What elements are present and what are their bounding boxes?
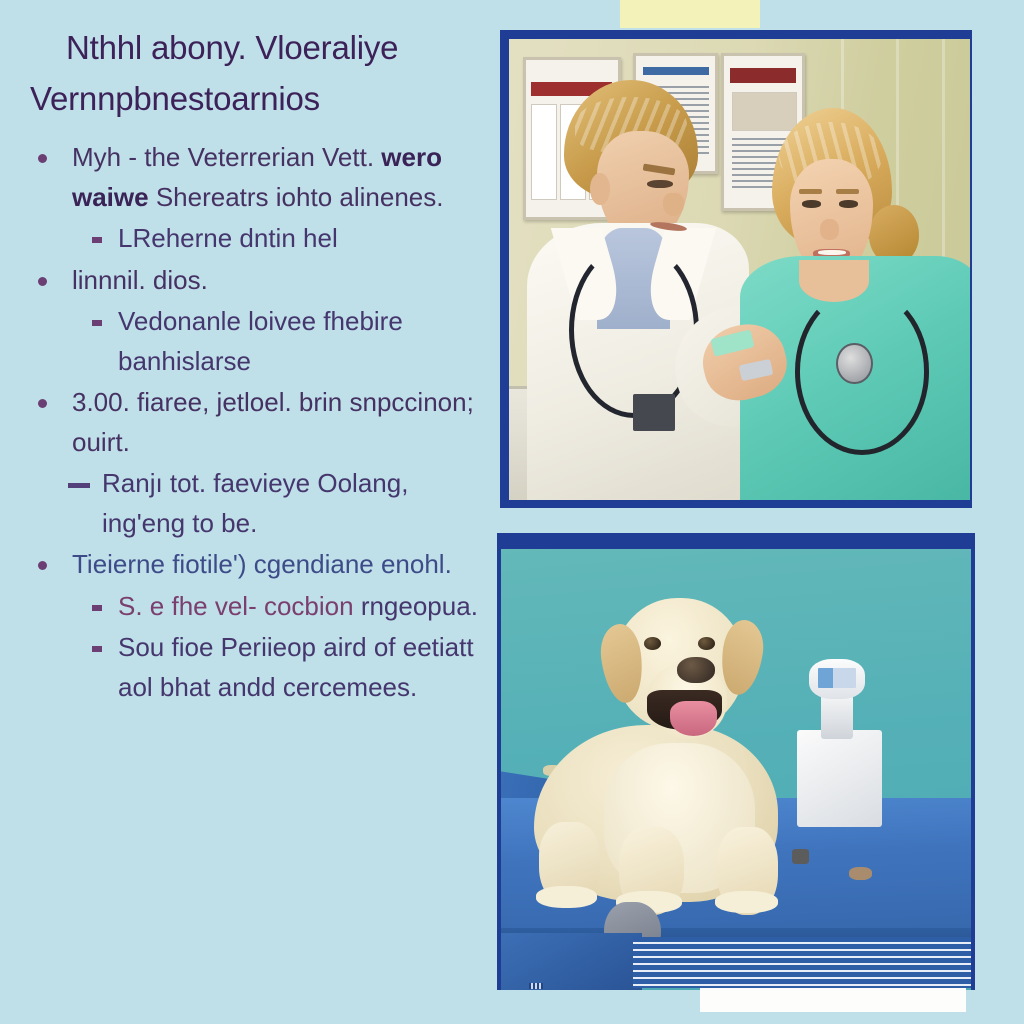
bullet-line: LReherne dntin hel (118, 223, 338, 253)
dog-nose (677, 657, 715, 683)
stethoscope-chestpiece-icon (836, 343, 872, 384)
bullet-line: rngeopua. (361, 591, 478, 621)
medical-dispenser-label (818, 668, 856, 688)
bullet-line: cgendiane enohl. (254, 549, 452, 579)
accent-block-white (700, 988, 966, 1012)
bullet-line: 3.00. fiaree, jetloel. brin (72, 387, 342, 417)
bullet-item: LReherne dntin hel (24, 219, 482, 259)
dog-paw (536, 886, 597, 908)
photo-veterinarian-and-assistant (500, 30, 972, 508)
photo-top-content (509, 39, 970, 500)
bullet-item: linnnil. dios. (24, 261, 482, 301)
assistant-eyebrow-right (836, 189, 859, 195)
assistant-nose (820, 219, 838, 240)
bullet-line: Tieierne fiotile') (72, 549, 247, 579)
medical-dispenser-body (797, 730, 882, 827)
bullet-line: S. e fhe vel- cocbion (118, 591, 354, 621)
bullet-line: linnnil. dios. (72, 265, 208, 295)
under-table-cabinet (501, 933, 642, 990)
table-debris (849, 867, 873, 880)
page-title: Nthhl abony. Vloeraliye Vernnpbnestoarni… (24, 22, 482, 124)
bullet-line: Sou fioe Periieop (118, 632, 316, 662)
bullet-item: S. e fhe vel- cocbion rngeopua. (24, 587, 482, 627)
page-title-line-1: Nthhl abony. Vloeraliye (24, 22, 482, 73)
photo-labrador-on-exam-table (497, 533, 975, 990)
slide-text-column: Nthhl abony. Vloeraliye Vernnpbnestoarni… (0, 0, 500, 1024)
table-debris (792, 849, 808, 864)
assistant-eye-left (802, 200, 821, 208)
accent-block-yellow (620, 0, 760, 28)
bullet-item: 3.00. fiaree, jetloel. brin snpccinon; o… (24, 383, 482, 462)
assistant-eye-right (839, 200, 858, 208)
bullet-item: Sou fioe Periieop aird of eetiatt aol bh… (24, 628, 482, 707)
photo-bottom-content (501, 549, 971, 990)
bullet-line: alinenes. (339, 182, 443, 212)
vet-eye (647, 180, 672, 188)
page-title-line-2: Vernnpbnestoarnios (24, 73, 482, 124)
bullet-line: Vedonanle loivee (118, 306, 316, 336)
bullet-line: Shereatrs iohto (156, 182, 332, 212)
medical-dispenser-neck (821, 695, 854, 739)
bullet-line: Myh - the Veterrerian (72, 142, 315, 172)
shelf-stack (633, 937, 971, 988)
bullet-item: Tieierne fiotile') cgendiane enohl. (24, 545, 482, 585)
presentation-slide: Nthhl abony. Vloeraliye Vernnpbnestoarni… (0, 0, 1024, 1024)
assistant-eyebrow-left (799, 189, 822, 195)
bullet-list: Myh - the Veterrerian Vett. wero waiwe S… (24, 138, 482, 707)
cabinet-grill (529, 983, 543, 989)
dog-paw (715, 891, 778, 913)
bullet-line: Ranjı tot. faevieye (102, 468, 310, 498)
bullet-item: Ranjı tot. faevieye Oolang, ing'eng to b… (24, 464, 482, 543)
bullet-line: andd cercemees. (218, 672, 417, 702)
bullet-item: Vedonanle loivee fhebire banhislarse (24, 302, 482, 381)
bullet-item: Myh - the Veterrerian Vett. wero waiwe S… (24, 138, 482, 217)
vet-id-badge (633, 394, 674, 431)
assistant-teeth (818, 250, 846, 255)
bullet-line: Vett. (322, 142, 374, 172)
